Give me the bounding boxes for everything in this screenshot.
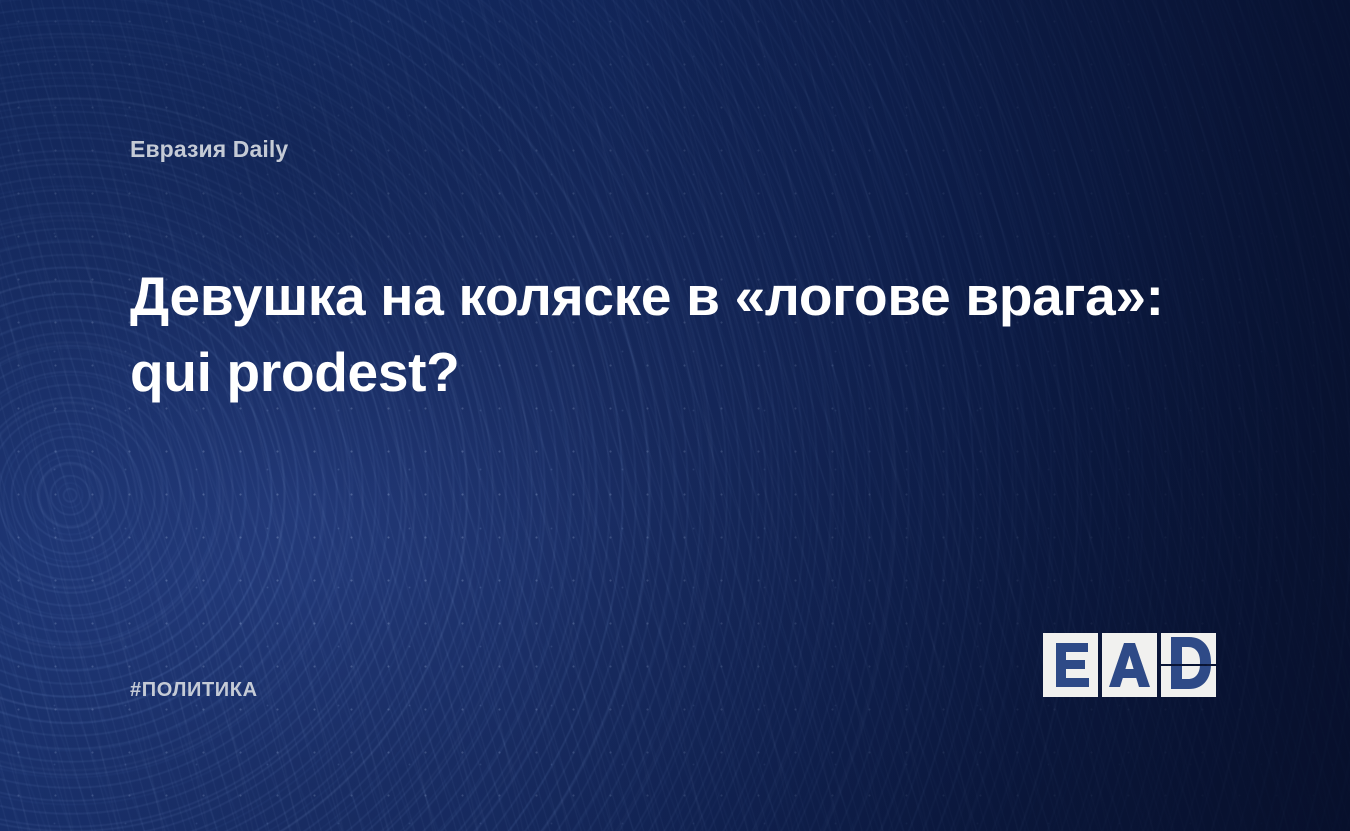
headline-line-2: qui prodest? — [130, 334, 1220, 410]
logo-letter-a-icon — [1102, 633, 1157, 697]
card-content: Евразия Daily Девушка на коляске в «лого… — [0, 0, 1350, 831]
social-share-card: Евразия Daily Девушка на коляске в «лого… — [0, 0, 1350, 831]
logo-split-d-bottom-half — [1161, 666, 1216, 697]
logo-split-d-icon — [1161, 633, 1216, 697]
logo-split-d-top-half — [1161, 633, 1216, 664]
eadaily-logo[interactable] — [1043, 633, 1216, 697]
site-name: Евразия Daily — [130, 136, 288, 163]
headline-line-1: Девушка на коляске в «логове врага»: — [130, 258, 1220, 334]
category-tag-politika[interactable]: #ПОЛИТИКА — [130, 679, 258, 702]
logo-letter-e-icon — [1043, 633, 1098, 697]
page-title: Девушка на коляске в «логове врага»: qui… — [130, 258, 1220, 410]
